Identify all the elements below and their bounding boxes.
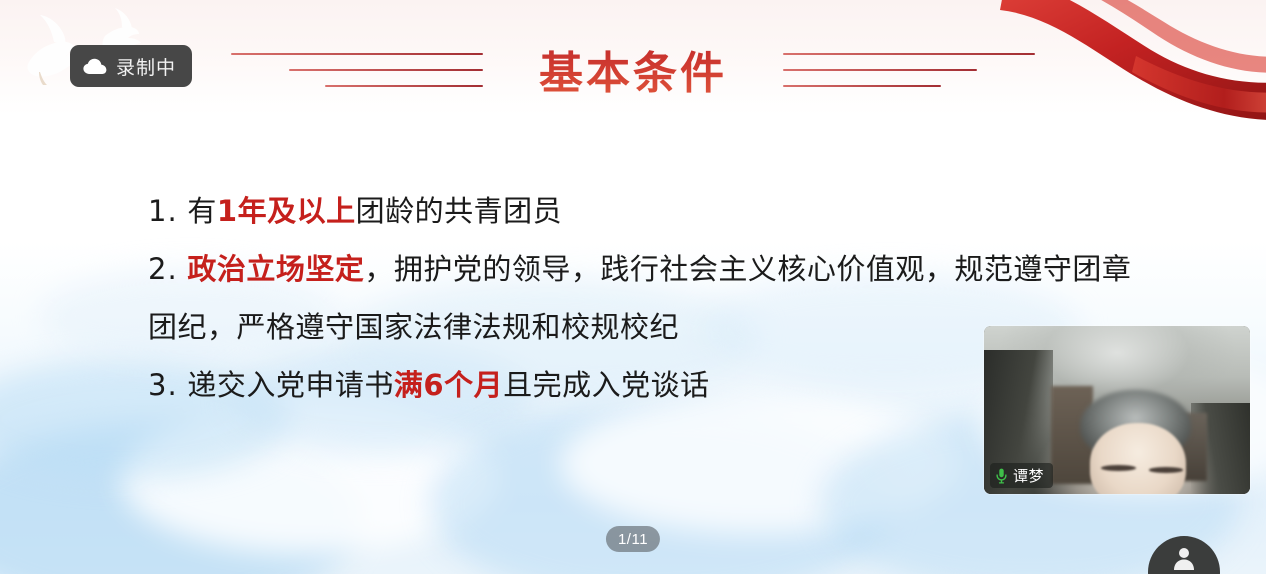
bullet-text-plain (178, 252, 188, 286)
page-indicator[interactable]: 1/11 (606, 526, 660, 552)
microphone-icon (996, 468, 1007, 484)
person-icon (1171, 545, 1197, 571)
title-decoration-right (773, 43, 1035, 95)
bullet-text-highlight: 1年及以上 (217, 194, 356, 228)
slide-title-row: 基本条件 (0, 38, 1266, 100)
participant-video-tile[interactable]: 谭梦 (984, 326, 1250, 494)
presentation-stage: 录制中 基本条件 1. 有1年及以上团龄的共青团员 2. 政治立场坚定，拥护党的… (0, 0, 1266, 574)
bullet-text-plain: 且完成入党谈话 (503, 368, 710, 402)
bullet-text-highlight: 满6个月 (394, 368, 503, 402)
participant-name: 谭梦 (1013, 465, 1044, 486)
list-item: 1. 有1年及以上团龄的共青团员 (148, 182, 1146, 240)
bullet-number: 3. (148, 368, 178, 402)
bullet-text-plain: 递交入党申请书 (178, 368, 394, 402)
page-title: 基本条件 (493, 37, 773, 101)
bullet-text-plain: 团龄的共青团员 (356, 194, 563, 228)
bullet-number: 1. (148, 194, 178, 228)
bullet-number: 2. (148, 252, 178, 286)
title-decoration-left (231, 43, 493, 95)
bullet-text-plain: 有 (178, 194, 217, 228)
participant-name-badge: 谭梦 (990, 463, 1053, 488)
bullet-text-highlight: 政治立场坚定 (187, 252, 364, 286)
